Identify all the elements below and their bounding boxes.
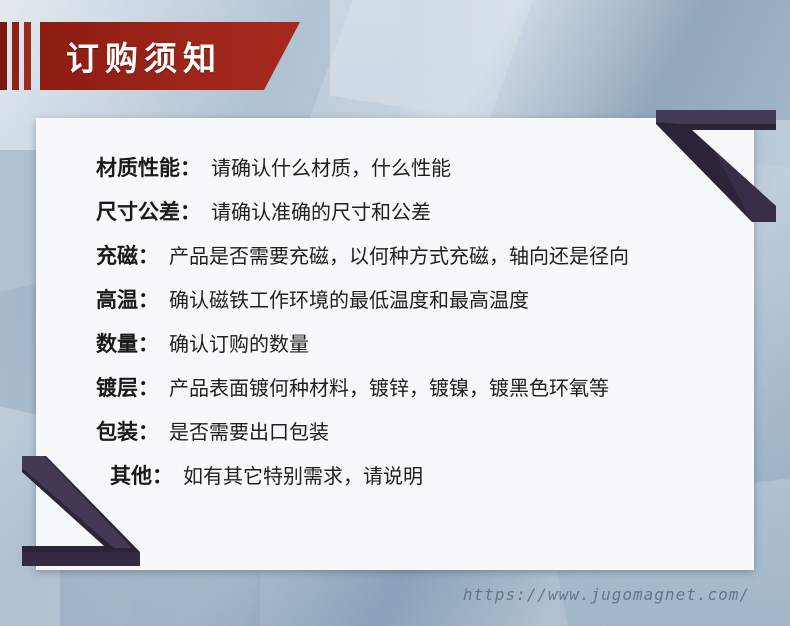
list-item-value: 产品表面镀何种材料，镀锌，镀镍，镀黑色环氧等 [159,372,609,401]
list-item: 材质性能： 请确认什么材质，什么性能 [96,152,736,182]
list-item-value: 产品是否需要充磁，以何种方式充磁，轴向还是径向 [159,240,629,269]
list-item-value: 请确认准确的尺寸和公差 [201,196,431,225]
banner-body: 订购须知 [40,22,300,90]
list-item-label: 包装： [96,416,159,446]
list-item: 尺寸公差： 请确认准确的尺寸和公差 [96,196,736,226]
list-item-value: 是否需要出口包装 [159,416,329,445]
list-item-label: 数量： [96,328,159,358]
list-item: 高温： 确认磁铁工作环境的最低温度和最高温度 [96,284,736,314]
list-item: 充磁： 产品是否需要充磁，以何种方式充磁，轴向还是径向 [96,240,736,270]
list-item-value: 请确认什么材质，什么性能 [201,152,451,181]
notice-list: 材质性能： 请确认什么材质，什么性能 尺寸公差： 请确认准确的尺寸和公差 充磁：… [96,152,736,504]
watermark-url: https://www.jugomagnet.com/ [463,585,750,604]
list-item-value: 确认订购的数量 [159,328,309,357]
list-item-label: 尺寸公差： [96,196,201,226]
poster-canvas: 订购须知 材质性能： 请确认什么材质，什么性能 尺寸公差： 请确认准确的尺寸和公… [0,0,790,626]
list-item: 包装： 是否需要出口包装 [96,416,736,446]
list-item-label: 其他： [110,460,173,490]
list-item-value: 如有其它特别需求，请说明 [173,460,423,489]
title-banner: 订购须知 [0,22,330,90]
banner-stripes-icon [0,22,36,90]
list-item-label: 高温： [96,284,159,314]
list-item: 镀层： 产品表面镀何种材料，镀锌，镀镍，镀黑色环氧等 [96,372,736,402]
list-item-label: 充磁： [96,240,159,270]
list-item-value: 确认磁铁工作环境的最低温度和最高温度 [159,284,529,313]
list-item: 其他： 如有其它特别需求，请说明 [96,460,736,490]
page-title: 订购须知 [40,32,222,80]
list-item: 数量： 确认订购的数量 [96,328,736,358]
list-item-label: 镀层： [96,372,159,402]
list-item-label: 材质性能： [96,152,201,182]
